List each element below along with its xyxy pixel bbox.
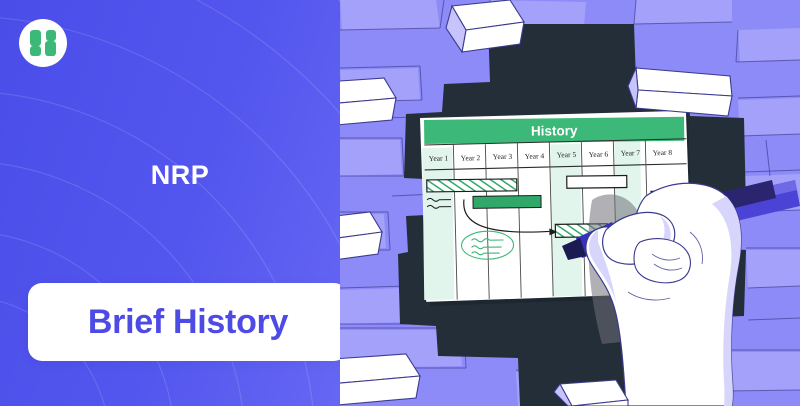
flying-brick-5 — [340, 354, 420, 406]
logo-square-bottom-left — [30, 46, 41, 57]
outline-bar-row-1-right — [567, 175, 627, 188]
brand-eyebrow: NRP — [0, 160, 360, 191]
page-title: Brief History — [88, 303, 288, 342]
svg-text:Year 5: Year 5 — [557, 150, 577, 160]
paper-banner-title: History — [531, 123, 578, 139]
solid-bar-row-2 — [473, 196, 541, 209]
title-card: Brief History — [28, 283, 348, 361]
flying-brick-6 — [554, 380, 628, 406]
svg-text:Year 3: Year 3 — [493, 152, 513, 162]
svg-text:Year 8: Year 8 — [653, 148, 673, 158]
logo-grid — [30, 30, 56, 56]
svg-text:Year 6: Year 6 — [589, 150, 609, 160]
svg-text:Year 2: Year 2 — [461, 153, 481, 163]
svg-text:Year 4: Year 4 — [525, 151, 545, 161]
logo-square-top-left — [30, 30, 41, 46]
svg-text:Year 1: Year 1 — [429, 153, 449, 163]
hatched-bar-row-1 — [427, 179, 517, 192]
logo-square-top-right — [46, 30, 57, 41]
logo-square-bottom-right — [45, 41, 56, 57]
hero-banner: NRP Brief History — [0, 0, 800, 406]
flying-brick-1 — [446, 0, 524, 52]
hero-illustration: History — [340, 0, 800, 406]
four-squares-logo-icon[interactable] — [19, 19, 67, 67]
svg-text:Year 7: Year 7 — [621, 148, 641, 158]
flying-brick-3 — [340, 78, 396, 128]
flying-brick-2 — [628, 68, 732, 116]
